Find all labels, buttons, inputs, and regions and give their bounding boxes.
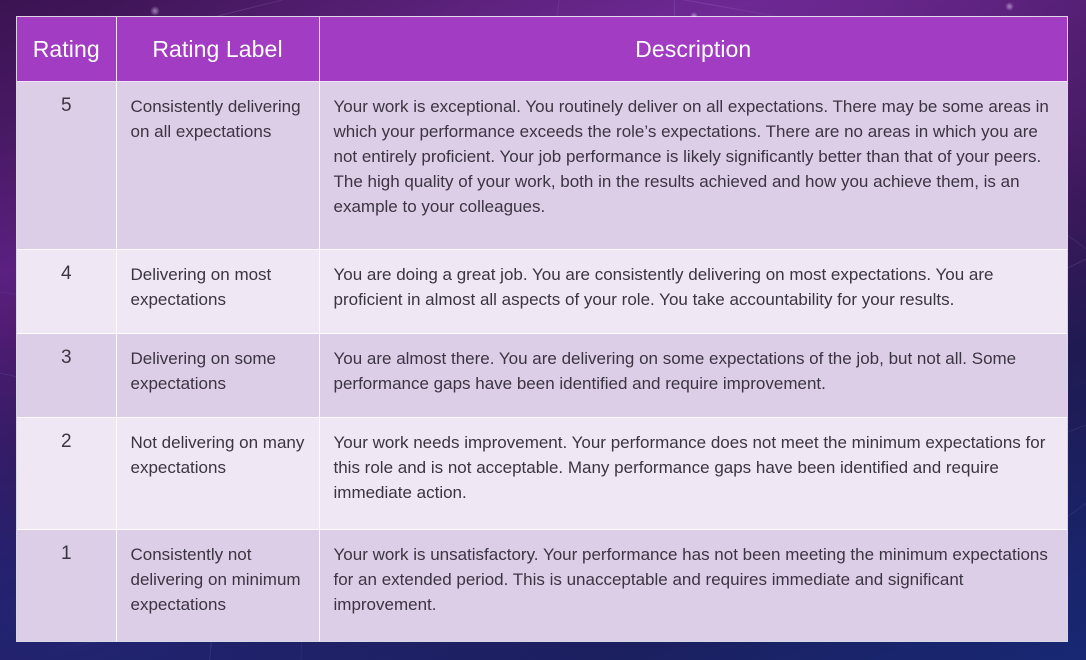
table-body: 5 Consistently delivering on all expecta…	[17, 82, 1067, 642]
cell-rating: 1	[17, 530, 116, 641]
table-header-row: Rating Rating Label Description	[17, 17, 1067, 82]
table-row: 1 Consistently not delivering on minimum…	[17, 530, 1067, 641]
cell-rating: 3	[17, 334, 116, 418]
cell-description: Your work needs improvement. Your perfor…	[319, 418, 1067, 530]
cell-rating-label: Not delivering on many expectations	[116, 418, 319, 530]
column-header-description: Description	[319, 17, 1067, 82]
rating-scale-table-container: Rating Rating Label Description 5 Consis…	[16, 16, 1068, 642]
cell-rating: 4	[17, 250, 116, 334]
cell-description: Your work is exceptional. You routinely …	[319, 82, 1067, 250]
cell-description: Your work is unsatisfactory. Your perfor…	[319, 530, 1067, 641]
column-header-rating-label: Rating Label	[116, 17, 319, 82]
cell-description: You are doing a great job. You are consi…	[319, 250, 1067, 334]
table-row: 5 Consistently delivering on all expecta…	[17, 82, 1067, 250]
table-row: 2 Not delivering on many expectations Yo…	[17, 418, 1067, 530]
cell-rating: 2	[17, 418, 116, 530]
decorative-dot	[1005, 2, 1014, 11]
cell-description: You are almost there. You are delivering…	[319, 334, 1067, 418]
cell-rating-label: Consistently not delivering on minimum e…	[116, 530, 319, 641]
cell-rating-label: Consistently delivering on all expectati…	[116, 82, 319, 250]
cell-rating-label: Delivering on most expectations	[116, 250, 319, 334]
table-row: 4 Delivering on most expectations You ar…	[17, 250, 1067, 334]
cell-rating: 5	[17, 82, 116, 250]
table-row: 3 Delivering on some expectations You ar…	[17, 334, 1067, 418]
rating-scale-table: Rating Rating Label Description 5 Consis…	[17, 17, 1067, 641]
decorative-dot	[150, 6, 160, 16]
cell-rating-label: Delivering on some expectations	[116, 334, 319, 418]
table-header: Rating Rating Label Description	[17, 17, 1067, 82]
column-header-rating: Rating	[17, 17, 116, 82]
